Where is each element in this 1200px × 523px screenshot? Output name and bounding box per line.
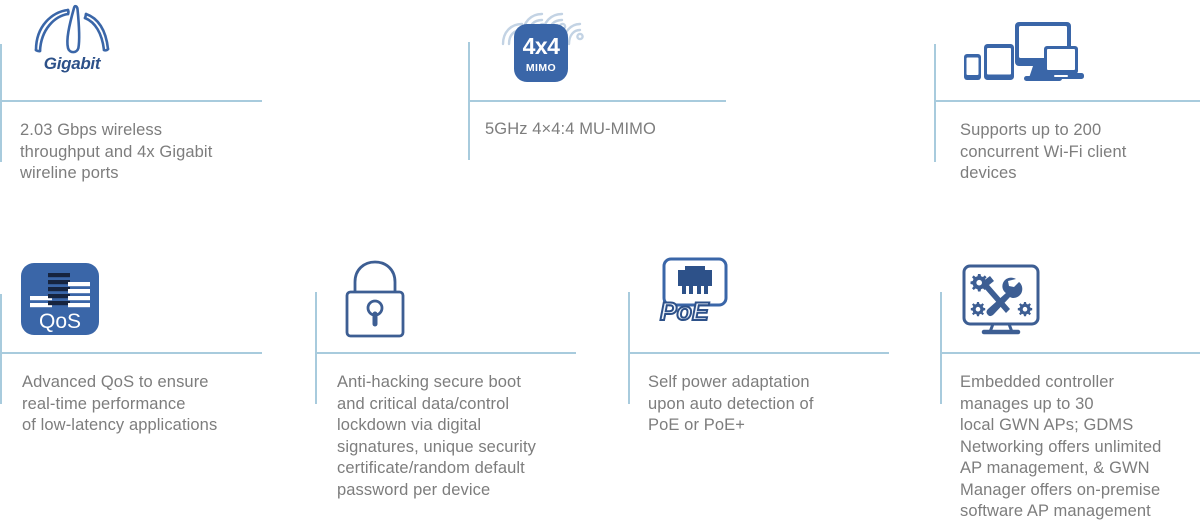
block-accent-vertical-line [934, 44, 936, 162]
block-accent-vertical-line [0, 294, 2, 404]
feature-text-mimo: 5GHz 4×4:4 MU-MIMO [485, 119, 765, 141]
feature-block-security: Anti-hacking secure boot and critical da… [315, 250, 615, 516]
feature-block-controller: Embedded controller manages up to 30 loc… [940, 250, 1200, 516]
feature-text-security: Anti-hacking secure boot and critical da… [337, 372, 622, 501]
feature-text-controller: Embedded controller manages up to 30 loc… [960, 372, 1200, 523]
feature-text-gigabit: 2.03 Gbps wireless throughput and 4x Gig… [20, 120, 290, 185]
feature-block-clients: Supports up to 200 concurrent Wi-Fi clie… [934, 0, 1200, 200]
qos-badge-label: QoS [21, 311, 99, 332]
feature-block-poe: PoE Self power adaptation upon auto dete… [628, 250, 928, 516]
mimo-badge-secondary-label: MIMO [514, 63, 568, 74]
block-divider-line [0, 100, 262, 102]
poe-badge-label: PoE [660, 298, 709, 327]
block-divider-line [315, 352, 576, 354]
block-accent-vertical-line [0, 44, 2, 162]
gigabit-logo-label: Gigabit [22, 54, 122, 74]
block-divider-line [468, 100, 726, 102]
multiple-devices-icon [962, 18, 1084, 89]
block-accent-vertical-line [628, 292, 630, 404]
feature-text-clients: Supports up to 200 concurrent Wi-Fi clie… [960, 120, 1200, 185]
mimo-badge-primary-label: 4x4 [514, 35, 568, 58]
block-accent-vertical-line [315, 292, 317, 404]
block-accent-vertical-line [940, 292, 942, 404]
block-divider-line [940, 352, 1200, 354]
wifi-4x4-mimo-badge-icon: 4x4 MIMO [495, 4, 587, 82]
feature-block-mimo: 4x4 MIMO 5GHz 4×4:4 MU-MIMO [468, 0, 768, 200]
monitor-tools-controller-icon [960, 262, 1042, 345]
feature-text-poe: Self power adaptation upon auto detectio… [648, 372, 918, 437]
gigabit-logo-icon: Gigabit [22, 4, 122, 82]
block-divider-line [0, 352, 262, 354]
qos-equalizer-badge-icon: QoS [21, 263, 99, 335]
feature-text-qos: Advanced QoS to ensure real-time perform… [22, 372, 297, 437]
feature-block-gigabit: Gigabit 2.03 Gbps wireless throughput an… [0, 0, 300, 200]
padlock-icon [337, 258, 413, 345]
feature-grid: Gigabit 2.03 Gbps wireless throughput an… [0, 0, 1200, 516]
poe-rj45-icon: PoE [656, 256, 756, 346]
block-divider-line [628, 352, 889, 354]
block-divider-line [934, 100, 1200, 102]
mimo-badge: 4x4 MIMO [514, 24, 568, 82]
feature-block-qos: QoS Advanced QoS to ensure real-time per… [0, 250, 300, 516]
